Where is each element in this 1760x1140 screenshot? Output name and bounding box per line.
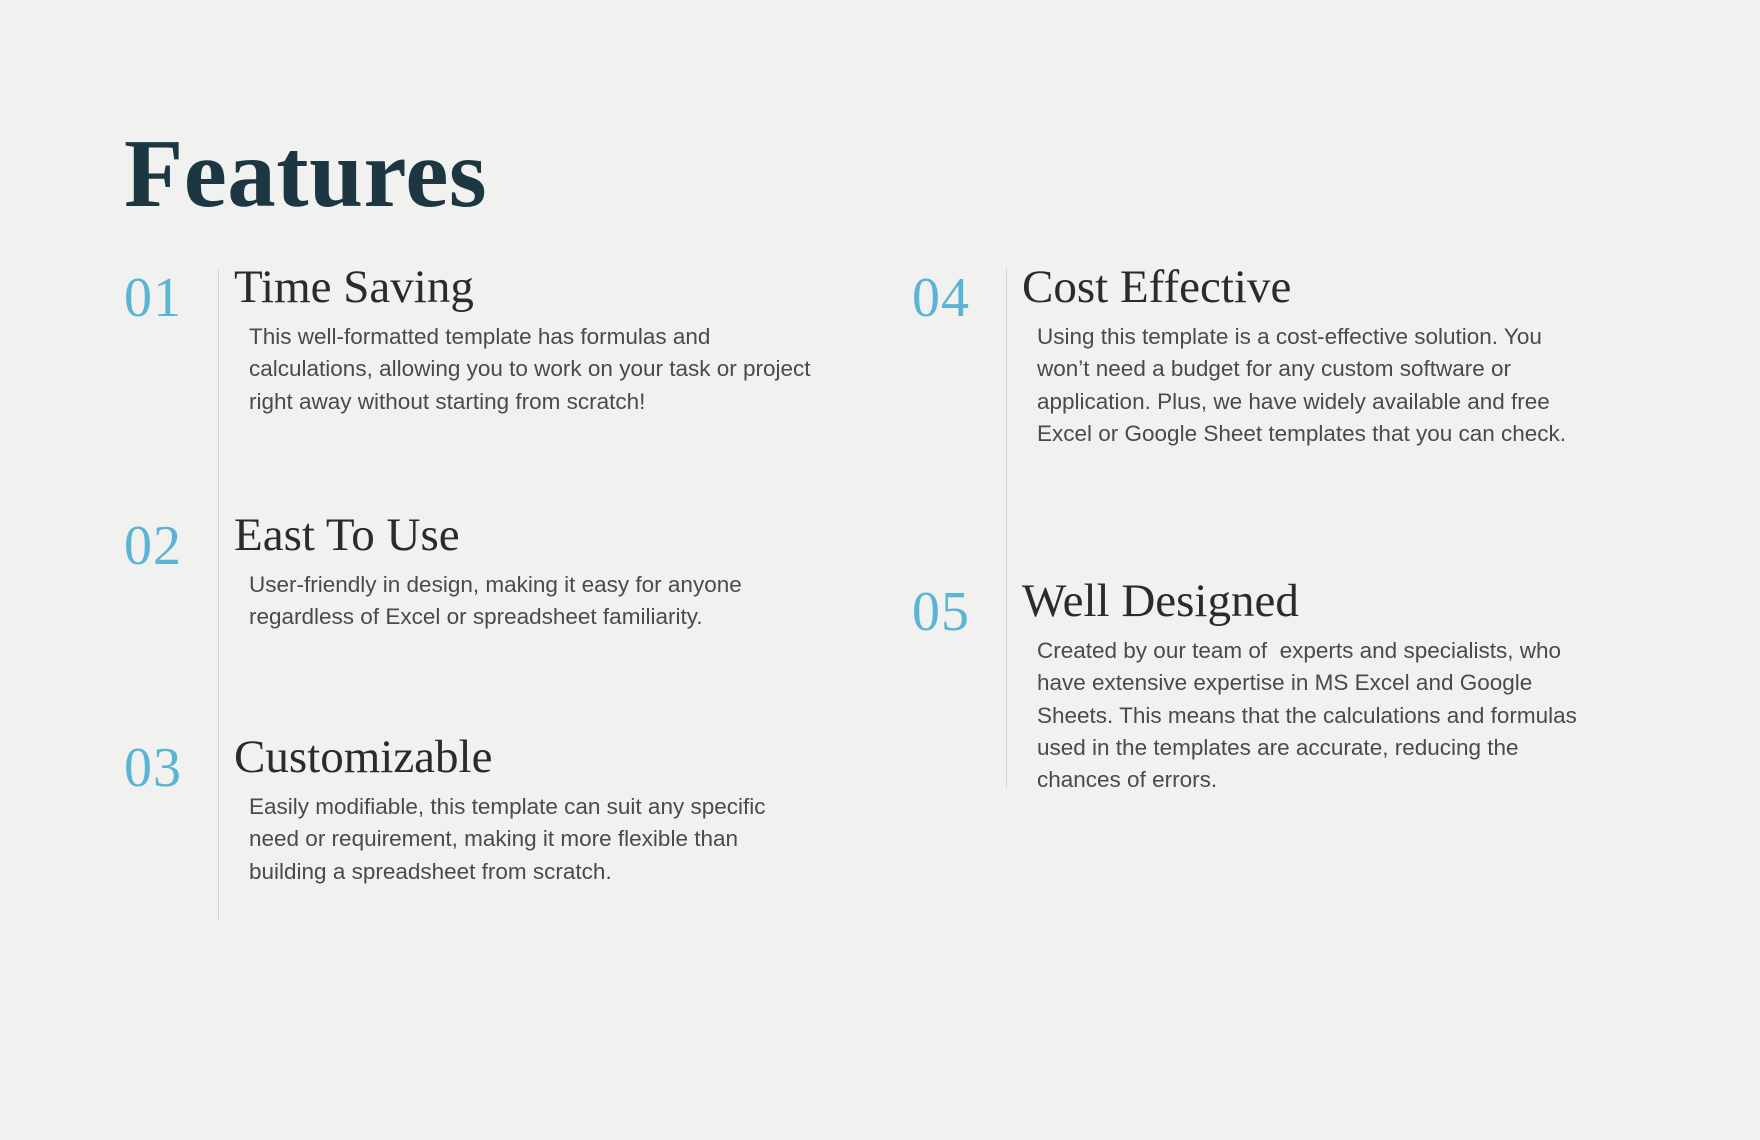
feature-number-05: 05 — [912, 584, 996, 640]
features-columns: 01 Time Saving This well-formatted templ… — [0, 0, 1760, 1140]
feature-item-01: 01 Time Saving This well-formatted templ… — [124, 262, 824, 418]
features-slide: Features 01 Time Saving This well-format… — [0, 0, 1760, 1140]
feature-item-02: 02 East To Use User-friendly in design, … — [124, 510, 824, 634]
feature-body-03: Customizable Easily modifiable, this tem… — [234, 732, 824, 888]
feature-body-04: Cost Effective Using this template is a … — [1022, 262, 1612, 450]
feature-number-03: 03 — [124, 740, 208, 796]
feature-description-05: Created by our team of experts and speci… — [1037, 635, 1597, 797]
feature-item-05: 05 Well Designed Created by our team of … — [912, 576, 1612, 797]
feature-number-04: 04 — [912, 270, 996, 326]
feature-title-02: East To Use — [234, 510, 824, 561]
feature-number-02: 02 — [124, 518, 208, 574]
feature-title-01: Time Saving — [234, 262, 824, 313]
feature-title-04: Cost Effective — [1022, 262, 1612, 313]
feature-description-02: User-friendly in design, making it easy … — [249, 569, 814, 634]
feature-item-04: 04 Cost Effective Using this template is… — [912, 262, 1612, 450]
feature-body-01: Time Saving This well-formatted template… — [234, 262, 824, 418]
feature-description-04: Using this template is a cost-effective … — [1037, 321, 1597, 451]
feature-description-01: This well-formatted template has formula… — [249, 321, 814, 418]
feature-title-03: Customizable — [234, 732, 824, 783]
feature-description-03: Easily modifiable, this template can sui… — [249, 791, 814, 888]
feature-body-02: East To Use User-friendly in design, mak… — [234, 510, 824, 634]
feature-item-03: 03 Customizable Easily modifiable, this … — [124, 732, 824, 888]
feature-title-05: Well Designed — [1022, 576, 1612, 627]
feature-number-01: 01 — [124, 270, 208, 326]
feature-body-05: Well Designed Created by our team of exp… — [1022, 576, 1612, 797]
